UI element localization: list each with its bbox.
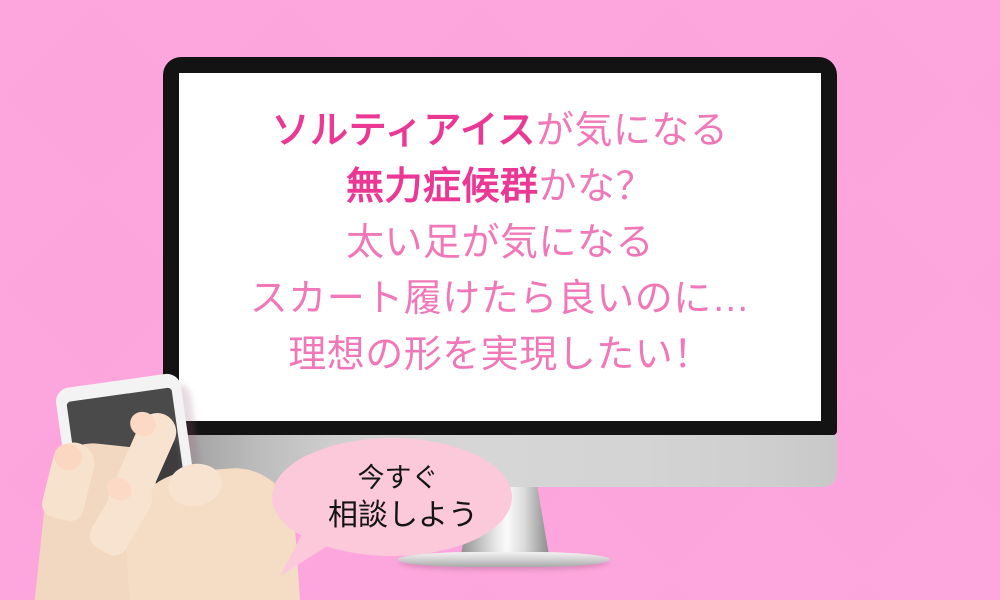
headline-line-4-rest: スカート履けたら良いのに… [250,278,751,320]
headline-line-4: スカート履けたら良いのに… [250,271,751,327]
headline-line-1-rest: が気になる [536,110,729,152]
headline-line-1-emphasis: ソルティアイス [272,110,536,152]
headline-line-5-rest: 理想の形を実現したい！ [288,334,712,376]
headline-line-2-emphasis: 無力症候群 [346,166,539,208]
headline-line-3-rest: 太い足が気になる [346,222,654,264]
headline-line-2-rest: かな？ [539,166,655,208]
cta-line-1: 今すぐ [358,459,439,497]
headline-line-3: 太い足が気になる [346,215,654,271]
headline-line-2: 無力症候群かな？ [346,159,654,215]
speech-bubble-text: 今すぐ 相談しよう [272,438,512,556]
cta-line-2: 相談しよう [328,497,478,535]
headline-line-5: 理想の形を実現したい！ [288,327,712,383]
headline-line-1: ソルティアイスが気になる [272,103,729,159]
banner-canvas: ソルティアイスが気になる 無力症候群かな？ 太い足が気になる スカート履けたら良… [0,0,1000,600]
cta-speech-bubble[interactable]: 今すぐ 相談しよう [272,438,512,556]
